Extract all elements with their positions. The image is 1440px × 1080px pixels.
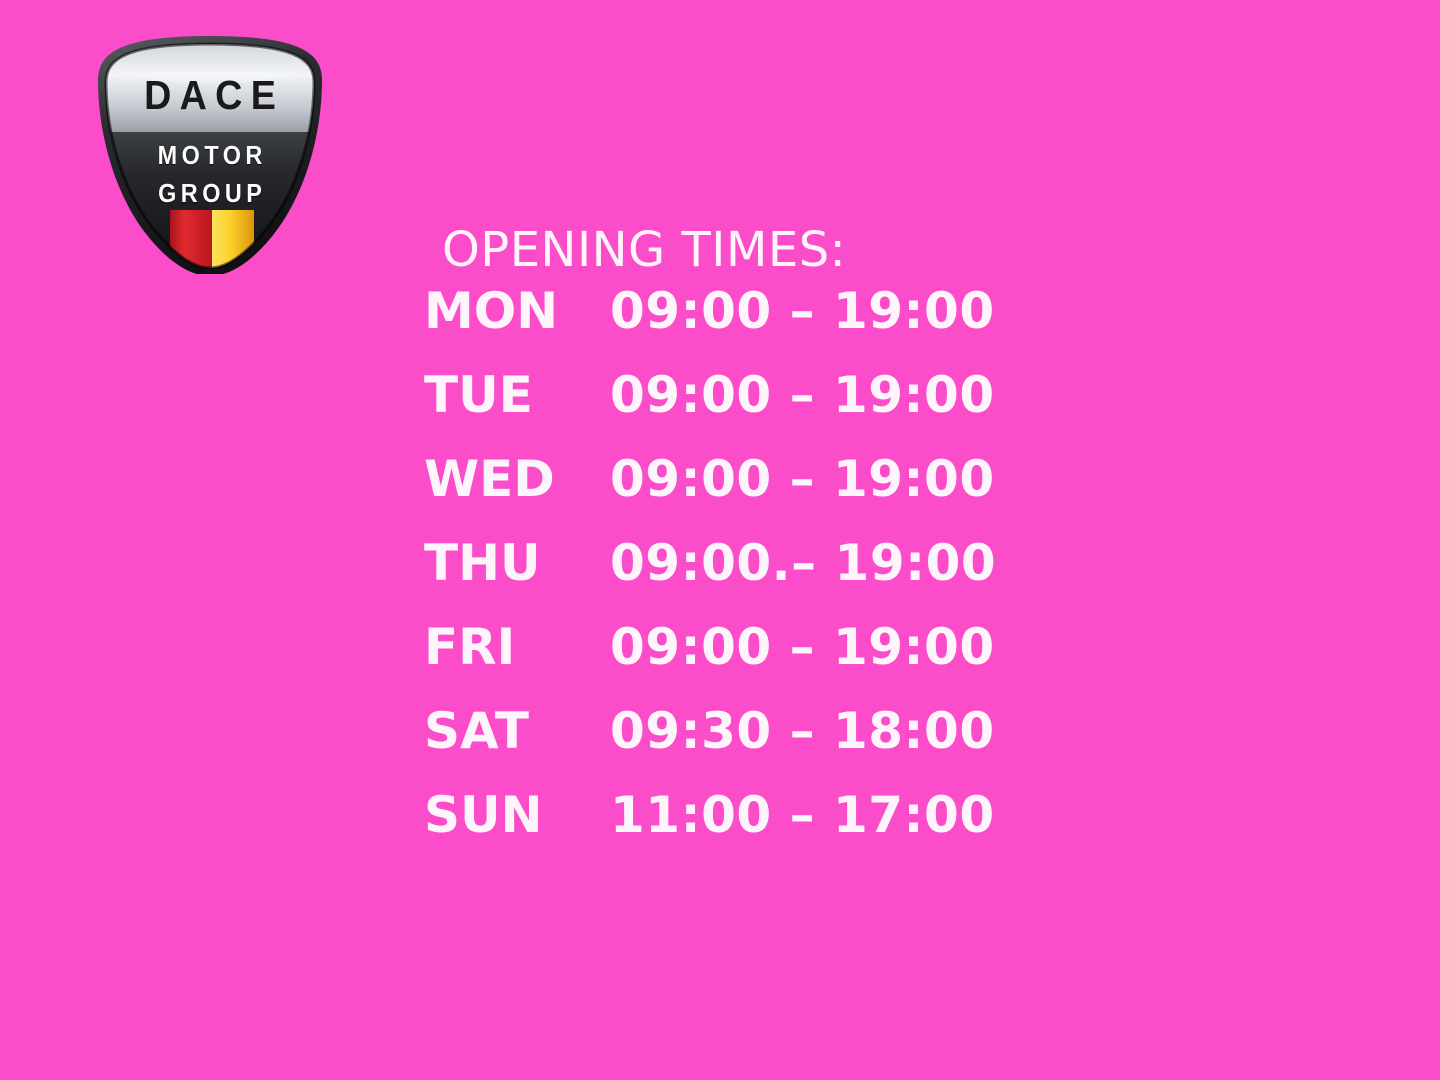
shield-icon: [86, 28, 334, 274]
hours-value-wed: 09:00 – 19:00: [610, 454, 1064, 504]
opening-times-row-wed: WED 09:00 – 19:00: [424, 454, 1064, 538]
opening-times-row-sun: SUN 11:00 – 17:00: [424, 790, 1064, 874]
hours-value-fri: 09:00 – 19:00: [610, 622, 1064, 672]
opening-times-poster: DACE MOTOR GROUP OPENING TIMES: MON 09:0…: [0, 0, 1440, 1080]
hours-value-sun: 11:00 – 17:00: [610, 790, 1064, 840]
day-label-sun: SUN: [424, 790, 610, 840]
opening-times-block: OPENING TIMES: MON 09:00 – 19:00 TUE 09:…: [424, 226, 1064, 874]
opening-times-row-thu: THU 09:00.– 19:00: [424, 538, 1064, 622]
opening-times-row-sat: SAT 09:30 – 18:00: [424, 706, 1064, 790]
day-label-fri: FRI: [424, 622, 610, 672]
opening-times-row-tue: TUE 09:00 – 19:00: [424, 370, 1064, 454]
day-label-sat: SAT: [424, 706, 610, 756]
opening-times-row-mon: MON 09:00 – 19:00: [424, 286, 1064, 370]
opening-times-row-fri: FRI 09:00 – 19:00: [424, 622, 1064, 706]
day-label-mon: MON: [424, 286, 610, 336]
hours-value-mon: 09:00 – 19:00: [610, 286, 1064, 336]
day-label-thu: THU: [424, 538, 610, 588]
hours-value-thu: 09:00.– 19:00: [610, 538, 1064, 588]
dace-motor-group-logo: DACE MOTOR GROUP: [86, 28, 334, 274]
hours-value-tue: 09:00 – 19:00: [610, 370, 1064, 420]
day-label-tue: TUE: [424, 370, 610, 420]
opening-times-heading: OPENING TIMES:: [424, 226, 1064, 286]
day-label-wed: WED: [424, 454, 610, 504]
hours-value-sat: 09:30 – 18:00: [610, 706, 1064, 756]
